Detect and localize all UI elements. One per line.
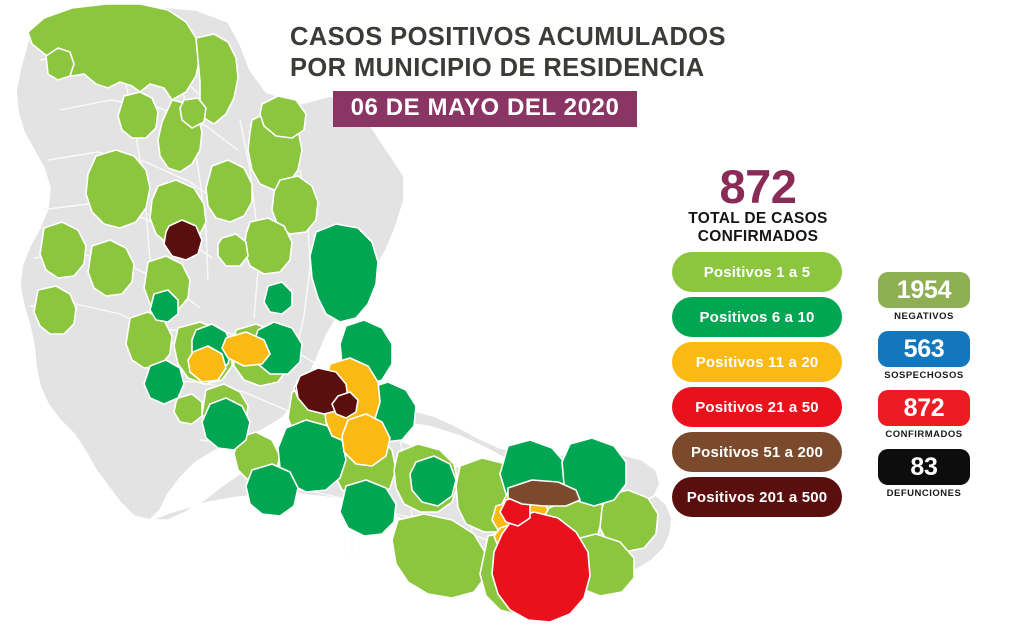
total-cases-label-line-1: TOTAL DE CASOS <box>660 210 856 228</box>
stat-negativos-label: NEGATIVOS <box>878 311 970 322</box>
stat-value: 83 <box>910 454 937 480</box>
stat-sospechosos-label: SOSPECHOSOS <box>878 370 970 381</box>
legend-label: Positivos 201 a 500 <box>687 489 827 506</box>
total-cases-label-line-2: CONFIRMADOS <box>660 228 856 246</box>
stat-defunciones-label: DEFUNCIONES <box>878 488 970 499</box>
legend-item-51-200[interactable]: Positivos 51 a 200 <box>672 432 842 472</box>
stat-defunciones-badge[interactable]: 83 <box>878 449 970 485</box>
stats-panel: 1954 NEGATIVOS 563 SOSPECHOSOS 872 CONFI… <box>878 272 970 508</box>
page-title: CASOS POSITIVOS ACUMULADOS POR MUNICIPIO… <box>290 22 680 127</box>
legend-label: Positivos 6 a 10 <box>700 309 815 326</box>
stat-value: 1954 <box>897 277 951 303</box>
legend-label: Positivos 21 a 50 <box>695 399 818 416</box>
total-cases-block: 872 TOTAL DE CASOS CONFIRMADOS <box>660 163 856 246</box>
stat-value: 872 <box>904 395 945 421</box>
title-line-1: CASOS POSITIVOS ACUMULADOS <box>290 22 680 53</box>
stat-confirmados: 872 CONFIRMADOS <box>878 390 970 440</box>
stat-confirmados-badge[interactable]: 872 <box>878 390 970 426</box>
legend-label: Positivos 11 a 20 <box>696 354 819 371</box>
infographic-root: CASOS POSITIVOS ACUMULADOS POR MUNICIPIO… <box>0 0 1024 628</box>
stat-sospechosos: 563 SOSPECHOSOS <box>878 331 970 381</box>
legend-label: Positivos 51 a 200 <box>691 444 823 461</box>
total-cases-number: 872 <box>660 163 856 210</box>
legend-item-1-5[interactable]: Positivos 1 a 5 <box>672 252 842 292</box>
stat-negativos: 1954 NEGATIVOS <box>878 272 970 322</box>
legend-label: Positivos 1 a 5 <box>704 264 810 281</box>
legend-item-201-500[interactable]: Positivos 201 a 500 <box>672 477 842 517</box>
legend-item-21-50[interactable]: Positivos 21 a 50 <box>672 387 842 427</box>
stat-sospechosos-badge[interactable]: 563 <box>878 331 970 367</box>
stat-negativos-badge[interactable]: 1954 <box>878 272 970 308</box>
legend-item-11-20[interactable]: Positivos 11 a 20 <box>672 342 842 382</box>
legend: Positivos 1 a 5 Positivos 6 a 10 Positiv… <box>672 252 842 522</box>
legend-item-6-10[interactable]: Positivos 6 a 10 <box>672 297 842 337</box>
stat-confirmados-label: CONFIRMADOS <box>878 429 970 440</box>
date-banner: 06 DE MAYO DEL 2020 <box>333 91 638 127</box>
stat-defunciones: 83 DEFUNCIONES <box>878 449 970 499</box>
title-line-2: POR MUNICIPIO DE RESIDENCIA <box>290 53 680 84</box>
stat-value: 563 <box>904 336 945 362</box>
